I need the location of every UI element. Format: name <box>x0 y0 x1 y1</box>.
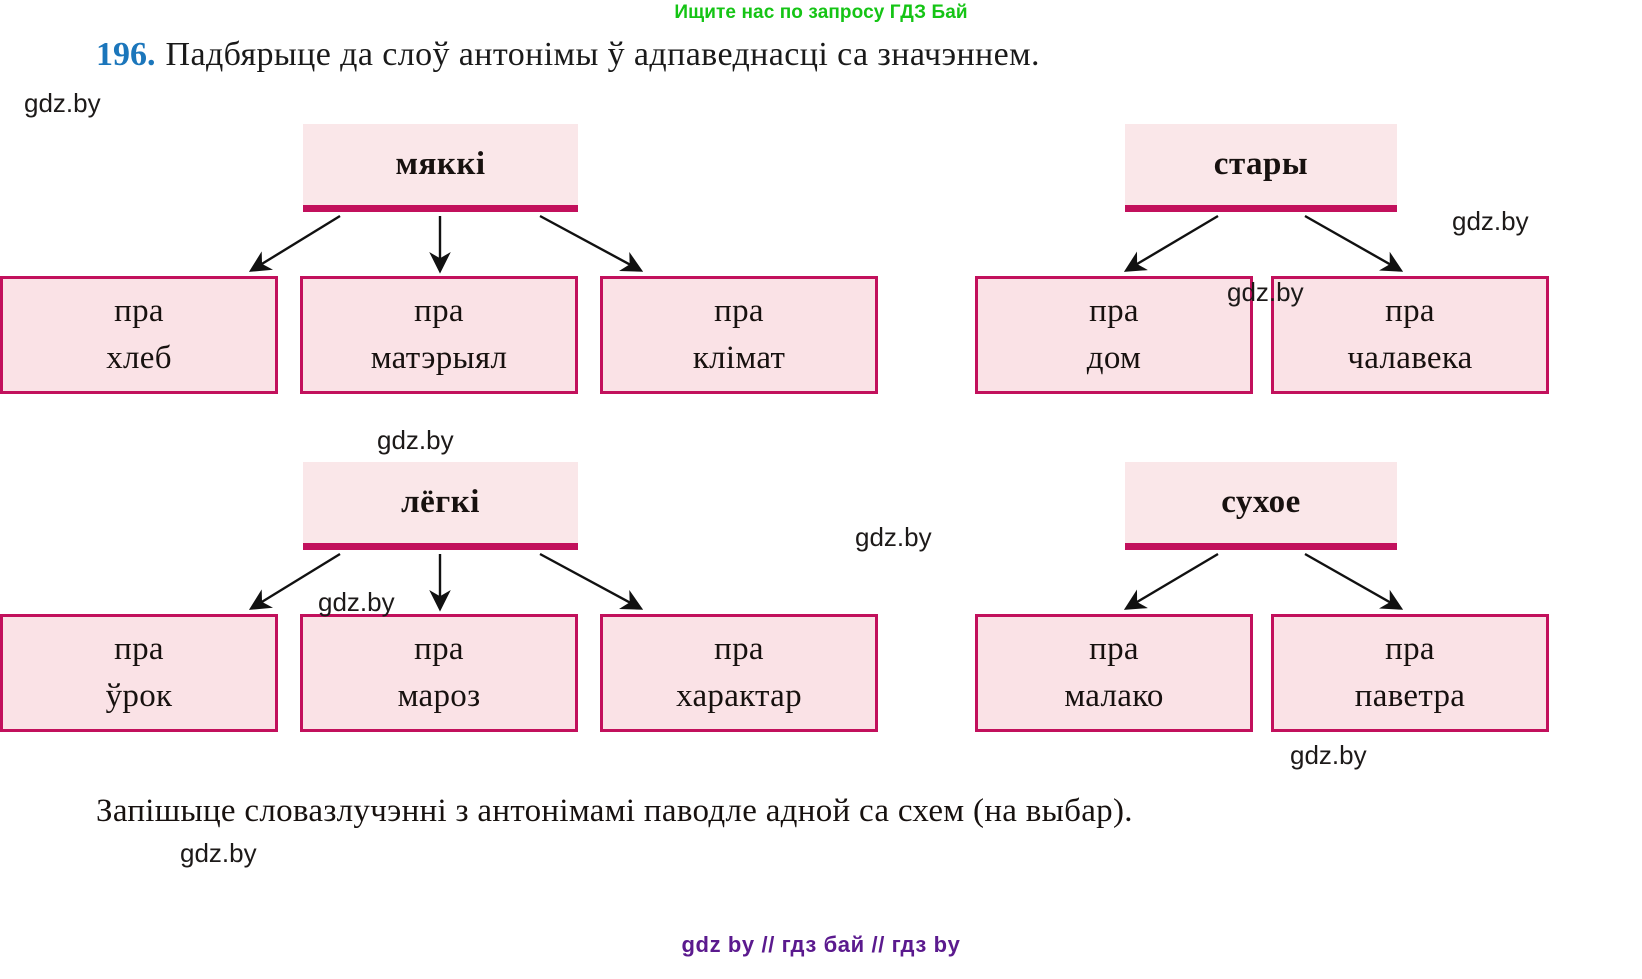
watermark: gdz.by <box>855 522 932 553</box>
closing-line-2: выбар). <box>1026 793 1133 829</box>
page-root: Ищите нас по запросу ГДЗ Бай 196.Падбяры… <box>0 0 1642 979</box>
scheme-suhoe: сухое пра малако пра паветра <box>975 462 1535 732</box>
watermark: gdz.by <box>318 587 395 618</box>
scheme-child-box: пра хлеб <box>0 276 278 394</box>
watermark: gdz.by <box>24 88 101 119</box>
scheme-child-box: пра матэрыял <box>300 276 578 394</box>
scheme-parent-box: лёгкі <box>303 462 578 550</box>
watermark: gdz.by <box>377 425 454 456</box>
scheme-child-box: пра чалавека <box>1271 276 1549 394</box>
child-line-2: характар <box>676 673 802 720</box>
child-line-2: мароз <box>398 673 481 720</box>
scheme-stary: стары пра дом пра чалавека <box>975 124 1535 394</box>
child-line-1: пра <box>1385 626 1435 673</box>
child-line-2: матэрыял <box>371 335 508 382</box>
child-line-2: ўрок <box>106 673 173 720</box>
scheme-child-box: пра клімат <box>600 276 878 394</box>
scheme-parent-box: стары <box>1125 124 1397 212</box>
closing-line-1: Запішыце словазлучэнні з антонімамі паво… <box>96 793 1017 829</box>
footer-watermark: gdz by // гдз бай // гдз by <box>0 932 1642 958</box>
child-line-2: клімат <box>693 335 785 382</box>
child-line-1: пра <box>414 626 464 673</box>
child-line-1: пра <box>1385 288 1435 335</box>
child-line-1: пра <box>414 288 464 335</box>
watermark: gdz.by <box>1452 206 1529 237</box>
child-line-2: дом <box>1087 335 1141 382</box>
promo-banner: Ищите нас по запросу ГДЗ Бай <box>0 2 1642 24</box>
scheme-child-box: пра дом <box>975 276 1253 394</box>
child-line-2: чалавека <box>1347 335 1472 382</box>
closing-paragraph: Запішыце словазлучэнні з антонімамі паво… <box>22 786 1562 837</box>
child-line-2: малако <box>1064 673 1163 720</box>
scheme-parent-box: сухое <box>1125 462 1397 550</box>
exercise-instruction: Падбярыце да слоў антонімы ў адпаведнасц… <box>166 36 1040 73</box>
child-line-2: хлеб <box>106 335 172 382</box>
scheme-child-box: пра паветра <box>1271 614 1549 732</box>
child-line-1: пра <box>114 626 164 673</box>
scheme-parent-box: мяккі <box>303 124 578 212</box>
scheme-lyohki: лёгкі пра ўрок пра мароз пра характар <box>0 462 900 732</box>
child-line-1: пра <box>114 288 164 335</box>
child-line-1: пра <box>714 626 764 673</box>
child-line-1: пра <box>714 288 764 335</box>
scheme-child-box: пра малако <box>975 614 1253 732</box>
child-line-1: пра <box>1089 288 1139 335</box>
child-line-2: паветра <box>1355 673 1465 720</box>
child-line-1: пра <box>1089 626 1139 673</box>
exercise-number: 196. <box>96 36 156 73</box>
page-title: 196.Падбярыце да слоў антонімы ў адпавед… <box>96 36 1556 74</box>
watermark: gdz.by <box>1290 740 1367 771</box>
scheme-child-box: пра характар <box>600 614 878 732</box>
scheme-child-box: пра ўрок <box>0 614 278 732</box>
scheme-myakki: мяккі пра хлеб пра матэрыял пра клімат <box>0 124 900 394</box>
scheme-child-box: пра мароз <box>300 614 578 732</box>
watermark: gdz.by <box>1227 277 1304 308</box>
watermark: gdz.by <box>180 838 257 869</box>
